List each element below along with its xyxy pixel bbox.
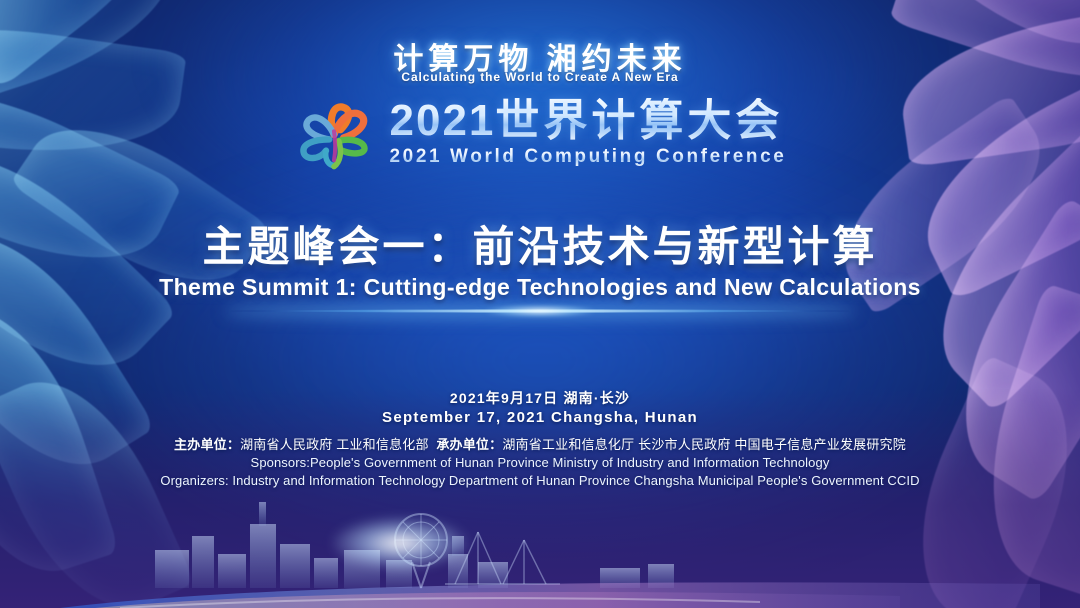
coop-label-chinese: 承办单位： xyxy=(436,437,502,452)
light-streak xyxy=(230,310,850,313)
sponsors-english: Sponsors:People's Government of Hunan Pr… xyxy=(0,455,1080,470)
conference-name-chinese: 世界计算大会 xyxy=(495,96,783,145)
conference-poster: 计算万物 湘约未来 Calculating the World to Creat… xyxy=(0,0,1080,608)
coop-names-chinese: 湖南省工业和信息化厅 长沙市人民政府 中国电子信息产业发展研究院 xyxy=(502,437,906,452)
road-headlight-glow xyxy=(330,516,470,570)
theme-title-chinese: 主题峰会一：前沿技术与新型计算 xyxy=(0,213,1080,274)
light-streak-core xyxy=(485,306,595,317)
organizers-chinese: 主办单位：湖南省人民政府 工业和信息化部 承办单位：湖南省工业和信息化厅 长沙市… xyxy=(0,434,1080,453)
host-names-chinese: 湖南省人民政府 工业和信息化部 xyxy=(240,437,429,452)
host-label-chinese: 主办单位： xyxy=(174,437,240,452)
date-english: September 17, 2021 Changsha, Hunan xyxy=(0,409,1080,426)
date-chinese: 2021年9月17日 湖南·长沙 xyxy=(0,388,1080,408)
brand-row: 2021世界计算大会 2021 World Computing Conferen… xyxy=(0,96,1080,170)
conference-title-chinese: 2021世界计算大会 xyxy=(390,98,784,144)
brand-text: 2021世界计算大会 2021 World Computing Conferen… xyxy=(390,98,787,168)
theme-title-english: Theme Summit 1: Cutting-edge Technologie… xyxy=(0,274,1080,301)
organizers-english: Organizers: Industry and Information Tec… xyxy=(0,473,1080,488)
butterfly-flower-logo-icon xyxy=(294,96,374,170)
slogan-english: Calculating the World to Create A New Er… xyxy=(0,70,1080,84)
conference-title-english: 2021 World Computing Conference xyxy=(390,146,787,168)
conference-year: 2021 xyxy=(390,96,496,145)
